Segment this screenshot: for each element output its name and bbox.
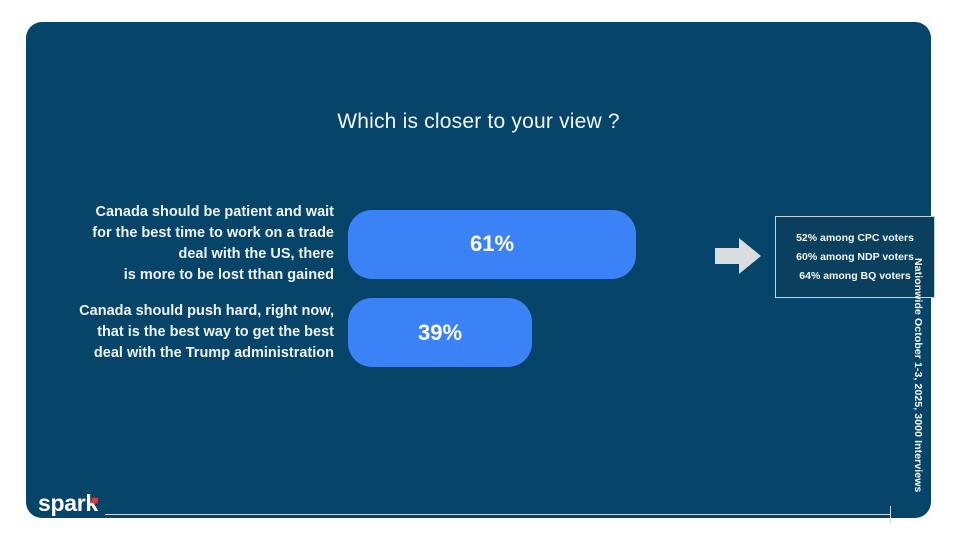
annotation-line: 60% among NDP voters — [796, 251, 914, 263]
bar-value-label: 61% — [470, 231, 514, 257]
bar-category-label-line: deal with the US, there — [26, 244, 334, 265]
bar-value-label: 39% — [418, 320, 462, 346]
bar-category-label: Canada should be patient and wait for th… — [26, 202, 348, 286]
side-caption: Nationwide October 1-3, 2025, 3000 Inter… — [912, 258, 924, 492]
bar-category-label-line: deal with the Trump administration — [26, 343, 334, 364]
bar-category-label-line: Canada should push hard, right now, — [26, 301, 334, 322]
slide-footer: spark — [26, 484, 931, 524]
bar-category-label-line: that is the best way to get the best — [26, 322, 334, 343]
bar-segment: 61% — [348, 210, 636, 279]
annotation-line: 64% among BQ voters — [799, 270, 910, 282]
slide-card: Which is closer to your view ? Canada sh… — [26, 22, 931, 518]
brand-logo: spark — [38, 490, 98, 517]
chart-row: Canada should push hard, right now, that… — [26, 298, 532, 367]
annotation-line: 52% among CPC voters — [796, 232, 914, 244]
arrow-right-icon — [715, 237, 761, 275]
slide-root: Which is closer to your view ? Canada sh… — [0, 0, 960, 540]
annotation-box: 52% among CPC voters 60% among NDP voter… — [775, 216, 935, 298]
footer-divider — [105, 514, 891, 515]
page-title: Which is closer to your view ? — [26, 110, 931, 134]
maple-leaf-icon — [90, 492, 99, 501]
footer-divider-end-tick — [890, 506, 891, 523]
bar-category-label-line: Canada should be patient and wait — [26, 202, 334, 223]
bar-category-label-line: is more to be lost tthan gained — [26, 265, 334, 286]
bar-segment: 39% — [348, 298, 532, 367]
bar-category-label: Canada should push hard, right now, that… — [26, 301, 348, 364]
chart-row: Canada should be patient and wait for th… — [26, 202, 636, 286]
bar-category-label-line: for the best time to work on a trade — [26, 223, 334, 244]
